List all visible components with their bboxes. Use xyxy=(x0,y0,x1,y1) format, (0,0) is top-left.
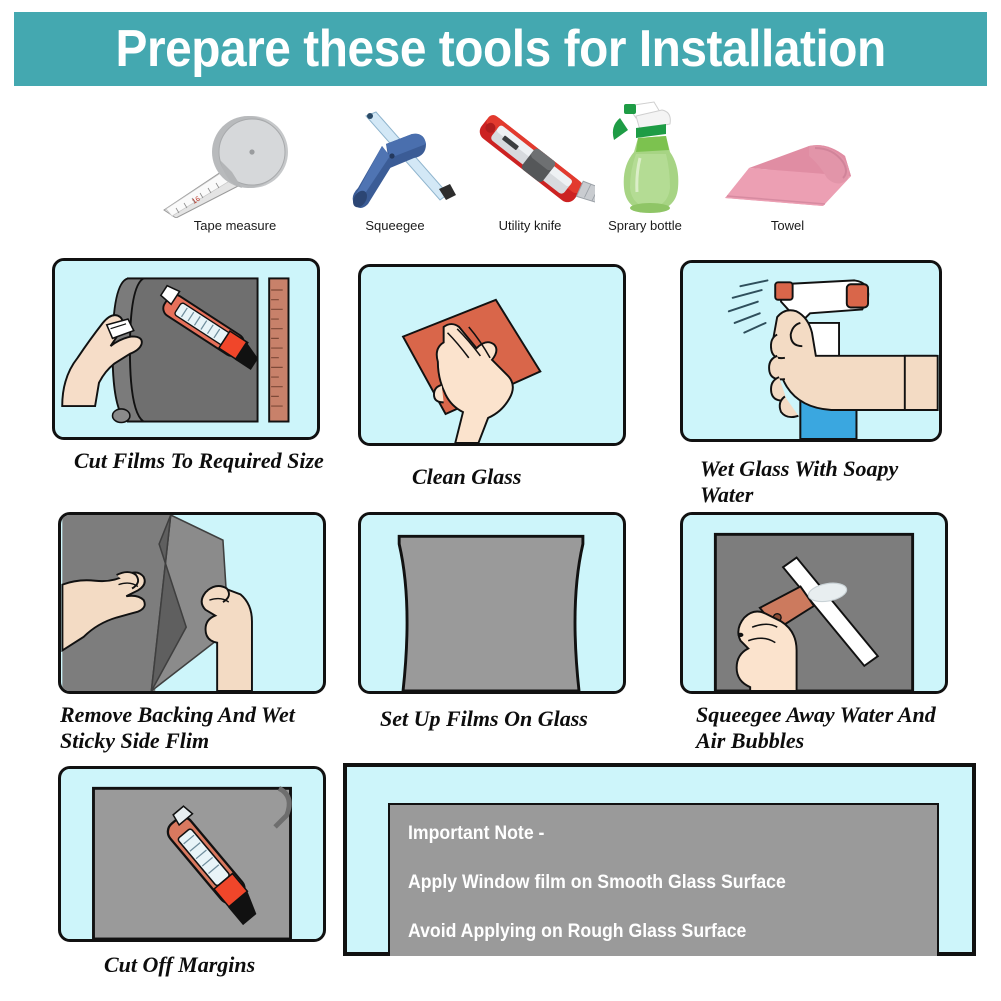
tool-label: Sprary bottle xyxy=(580,218,710,234)
tool-label: Squeegee xyxy=(320,218,470,234)
step-panel-set-up-films xyxy=(358,512,626,694)
header-banner: Prepare these tools for Installation xyxy=(14,12,987,86)
step-caption-2: Clean Glass xyxy=(412,464,632,490)
clean-glass-illustration xyxy=(361,267,623,443)
tools-row: 16 Tape measure xyxy=(150,100,870,248)
spray-bottle-illustration xyxy=(683,263,939,439)
set-up-films-illustration xyxy=(361,515,623,691)
tool-label: Tape measure xyxy=(150,218,320,234)
cut-margins-illustration xyxy=(61,769,323,939)
tool-item-squeegee: Squeegee xyxy=(320,100,470,234)
note-line-2: Avoid Applying on Rough Glass Surface xyxy=(408,921,900,943)
spray-bottle-icon xyxy=(580,100,710,218)
squeegee-icon xyxy=(320,100,470,218)
important-note-box: Important Note - Apply Window film on Sm… xyxy=(343,763,976,956)
step-panel-cut-films xyxy=(52,258,320,440)
tool-item-tape-measure: 16 Tape measure xyxy=(150,100,320,234)
step-caption-5: Set Up Films On Glass xyxy=(380,706,630,732)
tool-label: Towel xyxy=(705,218,870,234)
page-title: Prepare these tools for Installation xyxy=(115,19,885,79)
step-caption-6: Squeegee Away Water And Air Bubbles xyxy=(696,702,946,754)
note-line-1: Apply Window film on Smooth Glass Surfac… xyxy=(408,872,900,894)
cut-films-illustration xyxy=(55,261,317,437)
remove-backing-illustration xyxy=(61,515,323,691)
step-caption-4: Remove Backing And Wet Sticky Side Flim xyxy=(60,702,332,754)
tool-item-spray-bottle: Sprary bottle xyxy=(580,100,710,234)
step-panel-clean-glass xyxy=(358,264,626,446)
tool-item-utility-knife: Utility knife xyxy=(465,100,595,234)
towel-icon xyxy=(705,100,870,218)
step-panel-squeegee-water xyxy=(680,512,948,694)
tool-label: Utility knife xyxy=(465,218,595,234)
step-panel-remove-backing xyxy=(58,512,326,694)
step-caption-1: Cut Films To Required Size xyxy=(74,448,324,474)
important-note-inner: Important Note - Apply Window film on Sm… xyxy=(388,803,939,956)
tape-measure-icon: 16 xyxy=(150,100,320,218)
note-title: Important Note - xyxy=(408,823,900,845)
step-caption-3: Wet Glass With Soapy Water xyxy=(700,456,940,508)
step-caption-7: Cut Off Margins xyxy=(104,952,334,978)
utility-knife-icon xyxy=(465,100,595,218)
squeegee-illustration xyxy=(683,515,945,691)
step-panel-cut-margins xyxy=(58,766,326,942)
step-panel-wet-glass xyxy=(680,260,942,442)
tool-item-towel: Towel xyxy=(705,100,870,234)
